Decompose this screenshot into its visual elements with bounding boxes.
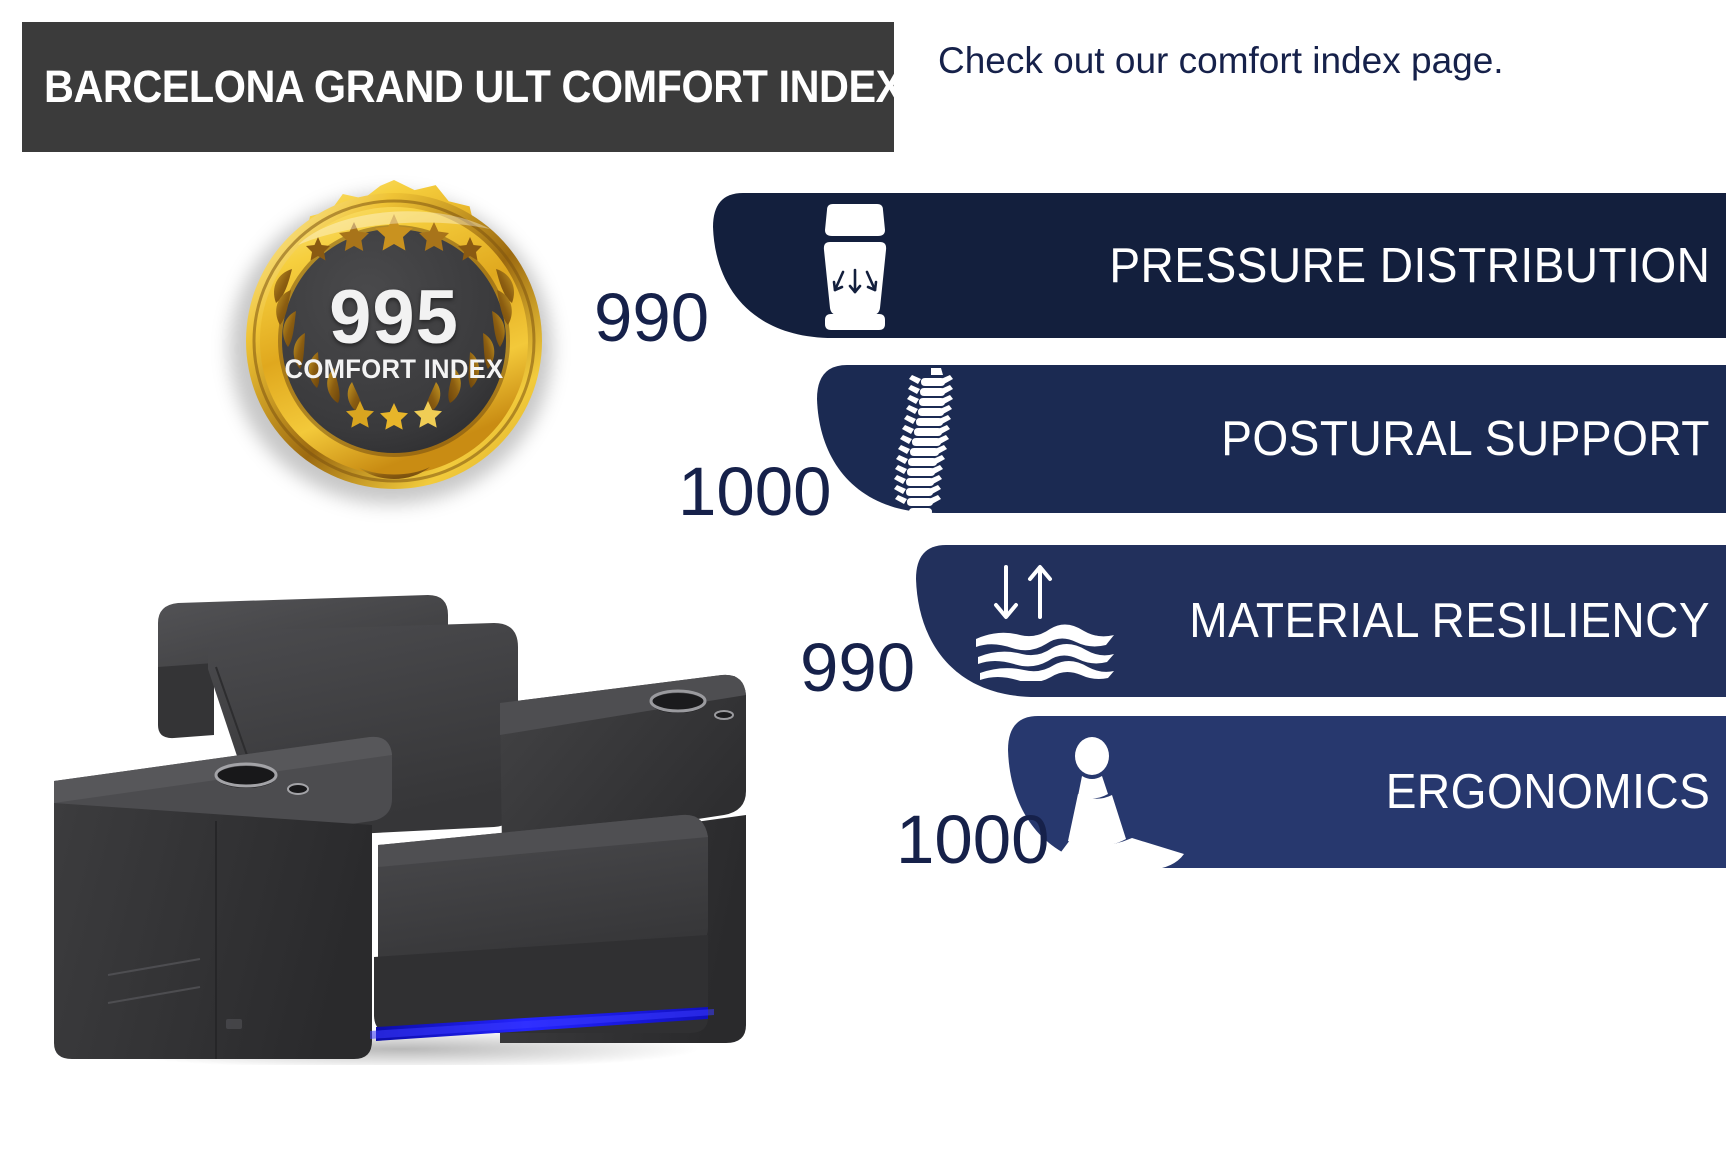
page-subtitle: Check out our comfort index page. [938, 40, 1558, 81]
compressed-cushion-icon [805, 202, 905, 330]
product-image-recliner [30, 545, 760, 1065]
seated-person-icon [1056, 736, 1186, 872]
infographic-root: BARCELONA GRAND ULT COMFORT INDEX Check … [0, 0, 1726, 1151]
metric-label-material-resiliency: MATERIAL RESILIENCY [1189, 593, 1710, 649]
spine-icon [891, 366, 965, 522]
page-title: BARCELONA GRAND ULT COMFORT INDEX [44, 61, 903, 113]
metric-bar-postural-support[interactable]: POSTURAL SUPPORT [817, 365, 1726, 513]
metric-label-ergonomics: ERGONOMICS [1385, 764, 1710, 820]
metric-score-ergonomics: 1000 [896, 800, 1050, 879]
page-title-bar: BARCELONA GRAND ULT COMFORT INDEX [22, 22, 894, 152]
metric-label-postural-support: POSTURAL SUPPORT [1221, 411, 1710, 467]
layered-foam-arrows-icon [966, 561, 1126, 681]
badge-score: 995 [222, 274, 566, 361]
metric-score-pressure-distribution: 990 [594, 278, 709, 357]
comfort-index-badge: 995 COMFORT INDEX [222, 178, 566, 508]
metric-label-pressure-distribution: PRESSURE DISTRIBUTION [1109, 238, 1710, 294]
badge-label: COMFORT INDEX [231, 354, 558, 385]
metric-bar-material-resiliency[interactable]: MATERIAL RESILIENCY [916, 545, 1726, 697]
metric-score-postural-support: 1000 [678, 452, 832, 531]
metric-bar-pressure-distribution[interactable]: PRESSURE DISTRIBUTION [713, 193, 1726, 338]
metric-bar-ergonomics[interactable]: ERGONOMICS [1008, 716, 1726, 868]
metric-score-material-resiliency: 990 [800, 628, 915, 707]
